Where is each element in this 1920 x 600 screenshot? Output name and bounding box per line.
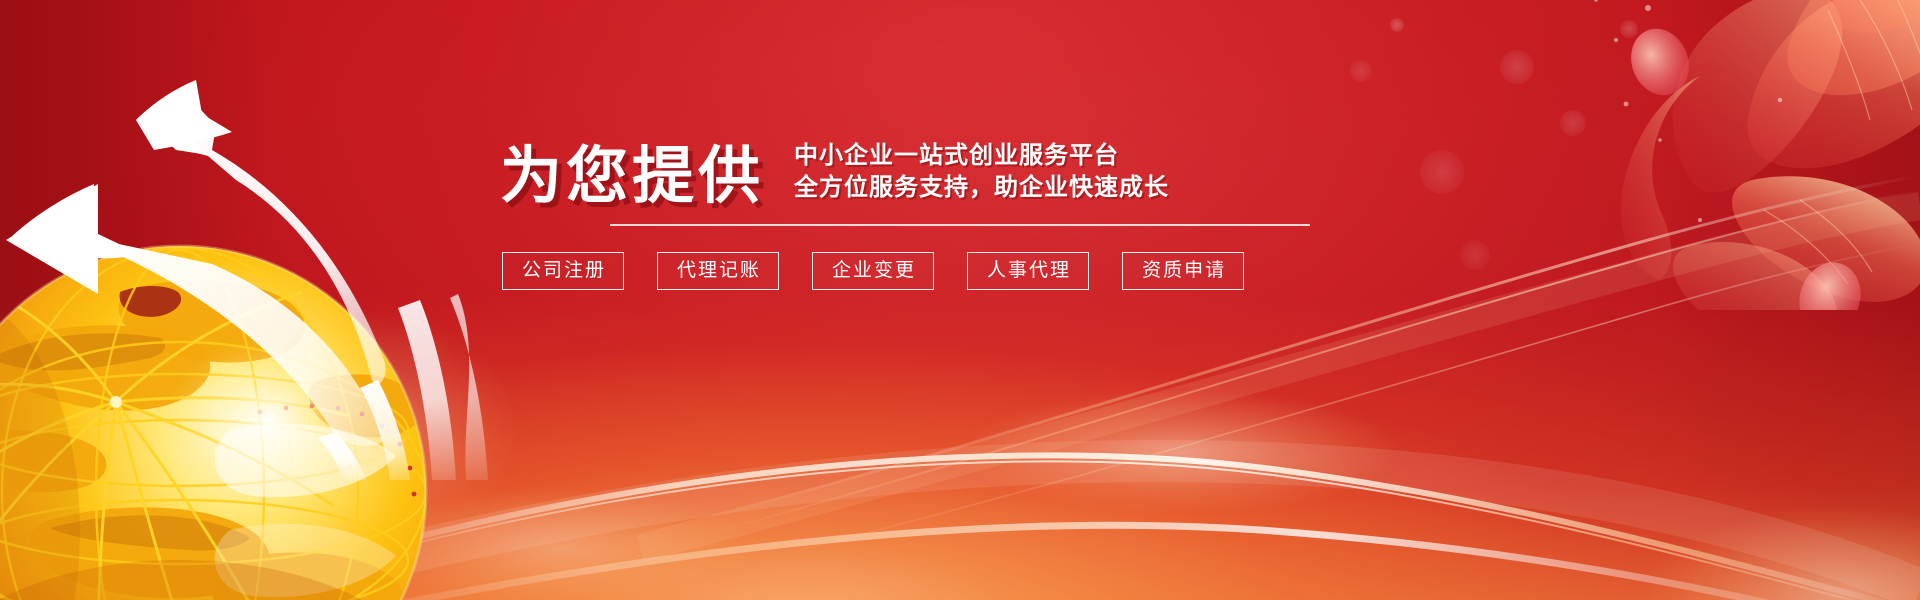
bokeh-dot-icon bbox=[1350, 60, 1372, 82]
bokeh-dot-icon bbox=[1420, 150, 1464, 194]
subtitle-line-1: 中小企业一站式创业服务平台 bbox=[794, 140, 1169, 172]
page-title: 为您提供 bbox=[500, 146, 764, 210]
service-tag-business-change[interactable]: 企业变更 bbox=[812, 252, 934, 290]
service-tag-bookkeeping[interactable]: 代理记账 bbox=[657, 252, 779, 290]
bokeh-dot-icon bbox=[1390, 18, 1404, 32]
service-tag-qualification-application[interactable]: 资质申请 bbox=[1122, 252, 1244, 290]
bokeh-dot-icon bbox=[1560, 110, 1586, 136]
bokeh-dot-icon bbox=[1460, 240, 1490, 270]
headline-row: 为您提供 中小企业一站式创业服务平台 全方位服务支持，助企业快速成长 bbox=[500, 140, 1320, 210]
promo-banner: 为您提供 中小企业一站式创业服务平台 全方位服务支持，助企业快速成长 公司注册 … bbox=[0, 0, 1920, 600]
service-tag-hr-agency[interactable]: 人事代理 bbox=[967, 252, 1089, 290]
subtitle-line-2: 全方位服务支持，助企业快速成长 bbox=[794, 172, 1169, 204]
bokeh-dot-icon bbox=[1620, 20, 1638, 38]
curved-arrow-icon bbox=[0, 50, 500, 480]
bokeh-dot-icon bbox=[1500, 50, 1534, 84]
banner-content: 为您提供 中小企业一站式创业服务平台 全方位服务支持，助企业快速成长 公司注册 … bbox=[500, 140, 1320, 290]
service-tag-list: 公司注册 代理记账 企业变更 人事代理 资质申请 bbox=[502, 252, 1320, 290]
horizontal-divider bbox=[610, 224, 1310, 226]
subtitle-group: 中小企业一站式创业服务平台 全方位服务支持，助企业快速成长 bbox=[794, 140, 1169, 210]
service-tag-company-registration[interactable]: 公司注册 bbox=[502, 252, 624, 290]
